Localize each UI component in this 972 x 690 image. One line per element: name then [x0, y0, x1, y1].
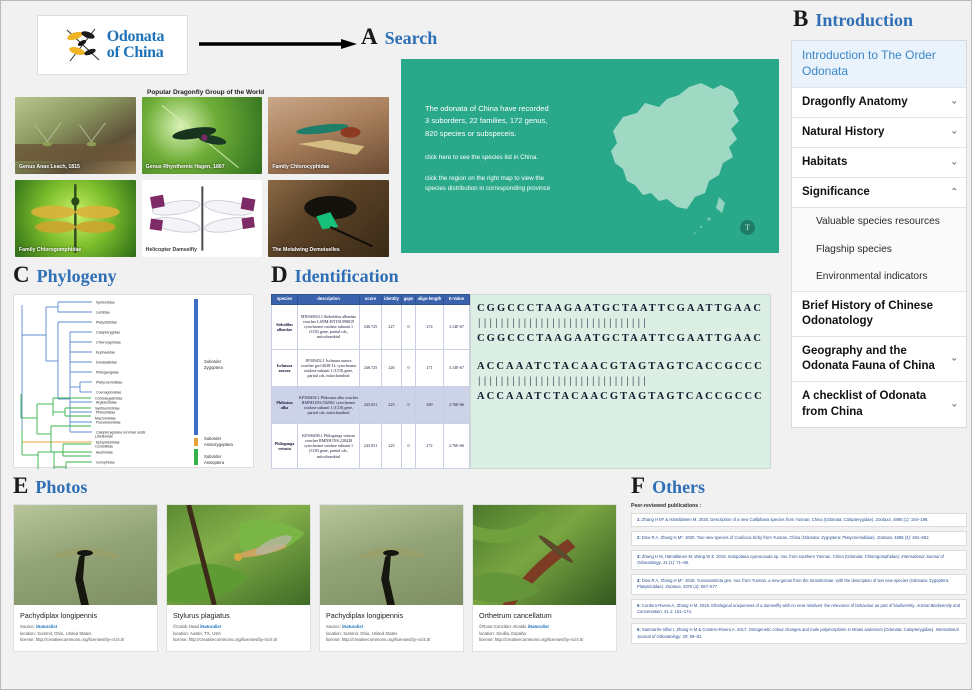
accordion-subitem-flagship-species[interactable]: Flagship species — [792, 236, 966, 263]
accordion-label: Valuable species resources — [816, 216, 940, 227]
publication-journal: Zootaxa — [876, 517, 891, 522]
table-row[interactable]: Ischnura aurora JF939452.1 Ischnura auro… — [272, 349, 470, 386]
panel-b-title: Introduction — [815, 10, 913, 31]
publication-journal: Zootaxa — [877, 535, 892, 540]
thumb-caption: Family Chlorocyphidae — [272, 165, 386, 171]
chevron-down-icon[interactable]: ⌄ — [950, 399, 958, 408]
thumb-caption: The Metalwing Demoiselles — [272, 248, 386, 254]
cell-align-length: 271 — [416, 349, 444, 386]
publication-item[interactable]: 4: Dow R A, Zhang H M*. 2018. Yunnanosti… — [631, 574, 967, 595]
chevron-down-icon[interactable]: ⌄ — [950, 127, 958, 136]
table-row[interactable]: Siebolilus albardae MN940923.1 Sieboldiu… — [272, 304, 470, 349]
panel-c-letter: C — [13, 263, 30, 286]
accordion-item-intro-odonata[interactable]: Introduction to The Order Odonata — [792, 41, 966, 88]
dragonfly-icon — [61, 24, 105, 66]
panel-f-letter: F — [631, 474, 645, 497]
photo-meta: Orthetrum cancellatum ©Rosa González Alc… — [473, 605, 616, 651]
svg-text:Suborder: Suborder — [204, 359, 222, 364]
accordion-subitem-environmental-indicators[interactable]: Environmental indicators — [792, 263, 966, 291]
dragonfly-on-stick-icon — [14, 505, 157, 605]
accordion-item-brief-history[interactable]: Brief History of Chinese Odonatology — [792, 292, 966, 337]
photo-source-link[interactable]: iNaturalist — [528, 624, 549, 629]
section-photos: E Photos Pachydiplax longipennis Source: — [13, 474, 623, 686]
publication-list: 1: Zhang H M* & Hämäläinen M. 2020. Desc… — [631, 513, 967, 644]
photo-source-prefix: ©Rosa González Alcalde — [479, 624, 528, 629]
thumb-card[interactable]: Helicopter Damselfly — [142, 180, 263, 257]
photo-card[interactable]: Pachydiplax longipennis Source: iNatural… — [319, 504, 464, 652]
photo-gallery: Pachydiplax longipennis Source: iNatural… — [13, 504, 623, 652]
col-evalue: E-Value — [444, 295, 470, 305]
cell-species: Siebolilus albardae — [272, 304, 298, 349]
photo-source: ©Rosa González Alcalde iNaturalist — [479, 624, 610, 631]
accordion-label: Flagship species — [816, 244, 892, 255]
photo-species-name: Orthetrum cancellatum — [479, 611, 610, 620]
cell-gaps: 0 — [402, 349, 416, 386]
accordion-item-natural-history[interactable]: Natural History ⌄ — [792, 118, 966, 148]
panel-e-heading: E Photos — [13, 474, 623, 498]
cell-score: 246.725 — [360, 349, 382, 386]
alignment-subject-1: CGGCCCTAAGAATGCTAATTCGAATTGAAC — [477, 333, 764, 344]
panel-a-letter: A — [361, 25, 378, 48]
photo-card[interactable]: Pachydiplax longipennis Source: iNatural… — [13, 504, 158, 652]
cell-evalue: 2.76E-66 — [444, 423, 470, 468]
photo-license[interactable]: license: http://creativecommons.org/lice… — [479, 637, 610, 644]
cell-score: 246.725 — [360, 304, 382, 349]
section-others: F Others Peer-reviewed publications : 1:… — [631, 474, 967, 686]
svg-text:Macromiidae: Macromiidae — [95, 416, 116, 420]
col-description: description — [298, 295, 360, 305]
chevron-up-icon[interactable]: ⌃ — [950, 187, 958, 196]
blast-results-table[interactable]: species description score identity gaps … — [271, 294, 470, 469]
panel-f-title: Others — [652, 477, 705, 498]
photo-meta: Stylurus plagiatus ©Calob Head iNaturali… — [167, 605, 310, 651]
cell-identity: 226 — [382, 349, 402, 386]
cell-species: Philoganga vetusta — [272, 423, 298, 468]
cell-align-length: 274 — [416, 304, 444, 349]
panel-c-heading: C Phylogeny — [13, 263, 261, 287]
species-list-link[interactable]: click here to see the species list in Ch… — [425, 153, 630, 163]
cell-description: KF369490.1 Philoganga vetusta voucher RM… — [298, 423, 360, 468]
panel-d-heading: D Identification — [271, 263, 771, 287]
photo-source-link[interactable]: iNaturalist — [342, 624, 363, 629]
accordion-label: Habitats — [802, 156, 847, 168]
thumb-caption: Genus Anax Leach, 1815 — [19, 165, 133, 171]
svg-text:Platycnemididae: Platycnemididae — [96, 380, 122, 384]
panel-f-heading: F Others — [631, 474, 967, 498]
photo-location: location: Sevilla, España — [479, 631, 610, 638]
panel-d-letter: D — [271, 263, 288, 286]
publication-tail: , 41.1: 161–174. — [662, 609, 692, 614]
col-species: species — [272, 295, 298, 305]
table-row[interactable]: Philoganga vetusta KF369490.1 Philoganga… — [272, 423, 470, 468]
accordion-label: Environmental indicators — [816, 271, 928, 282]
cell-score: 243.031 — [360, 423, 382, 468]
photo-card[interactable]: Orthetrum cancellatum ©Rosa González Alc… — [472, 504, 617, 652]
col-identity: identity — [382, 295, 402, 305]
identification-body: species description score identity gaps … — [271, 294, 763, 469]
photo-location: location: Austin, TX, USA — [173, 631, 304, 638]
cell-species: Ischnura aurora — [272, 349, 298, 386]
publication-tail: , 4896 (4): 491–502. — [892, 535, 930, 540]
photo-source-link[interactable]: iNaturalist — [200, 624, 221, 629]
china-map-shape — [601, 77, 753, 242]
panel-d-title: Identification — [295, 266, 399, 287]
photo-species-name: Pachydiplax longipennis — [326, 611, 457, 620]
col-align-length: align-length — [416, 295, 444, 305]
panel-c-title: Phylogeny — [37, 266, 117, 287]
cell-gaps: 0 — [402, 423, 416, 468]
publication-text: Sanmartín-Villar I, Zhang H M & Cordero-… — [642, 627, 936, 632]
dragonfly-on-leaf-icon — [167, 505, 310, 605]
accordion-item-geography-fauna[interactable]: Geography and the Odonata Fauna of China… — [792, 337, 966, 382]
section-search: Odonata of China A Search Popular Dragon… — [9, 7, 787, 259]
arrow-icon — [199, 39, 357, 49]
photo-meta: Pachydiplax longipennis Source: iNatural… — [320, 605, 463, 651]
thumb-caption: Helicopter Damselfly — [146, 248, 260, 254]
dragonfly-photo — [142, 97, 263, 174]
logo-line-2: of China — [107, 45, 164, 61]
photo-source-link[interactable]: iNaturalist — [36, 624, 57, 629]
thumb-card[interactable]: Family Chlorogomphidae — [15, 180, 136, 257]
publication-item[interactable]: 6: Sanmartín-Villar I, Zhang H M & Corde… — [631, 623, 967, 644]
publication-index: 6: — [637, 627, 641, 632]
col-score: score — [360, 295, 382, 305]
publication-item[interactable]: 5: Cordero-Rivera A, Zhang H M. 2018. Et… — [631, 599, 967, 620]
photo-species-name: Stylurus plagiatus — [173, 611, 304, 620]
dragonfly-on-stick-icon — [320, 505, 463, 605]
helicopter-damselfly-photo — [142, 180, 263, 257]
svg-text:Synthemistidae: Synthemistidae — [95, 406, 120, 410]
publication-index: 3: — [637, 554, 641, 559]
svg-text:Corduliidae: Corduliidae — [95, 444, 113, 448]
publications-subtitle: Peer-reviewed publications : — [631, 503, 967, 509]
photo-location: location: Summit, Ohio, United States — [326, 631, 457, 638]
publication-text: Zhang H M* & Hämäläinen M. 2020. Descrip… — [642, 517, 876, 522]
svg-text:Chlorocyphidae: Chlorocyphidae — [96, 340, 121, 344]
table-row[interactable]: Philosina alba KF369494.1 Philosina alba… — [272, 386, 470, 423]
publication-tail: , 21 (1): 71–88. — [661, 560, 689, 565]
publication-tail: , 4375 (4): 567–577. — [681, 584, 719, 589]
section-identification: D Identification species description sco… — [271, 263, 771, 463]
alignment-subject-2: ACCAAATCTACAACGTAGTAGTCACCGCCC — [477, 391, 764, 402]
dragonfly-photo — [268, 180, 389, 257]
svg-text:Devadattidae: Devadattidae — [96, 360, 117, 364]
cell-score: 243.031 — [360, 386, 382, 423]
cell-align-length: 269 — [416, 386, 444, 423]
cell-description: JF939452.1 Ischnura aurora voucher gw146… — [298, 349, 360, 386]
publication-text: Cordero-Rivera A, Zhang H M. 2018. Ethol… — [642, 603, 917, 608]
photo-meta: Pachydiplax longipennis Source: iNatural… — [14, 605, 157, 651]
photo-source-prefix: Source: — [326, 624, 342, 629]
accordion-label: A checklist of Odonata from China — [802, 390, 926, 417]
publication-text: Dow R A, Zhang H M*. 2020. Two new speci… — [642, 535, 877, 540]
accordion-label: Brief History of Chinese Odonatology — [802, 300, 933, 327]
accordion-label: Introduction to The Order Odonata — [802, 48, 936, 78]
cell-gaps: 0 — [402, 304, 416, 349]
thumb-caption: Genus Rhyothemis Hagen, 1867 — [146, 165, 260, 171]
publication-text: Zhang H M, Hämäläinen M, Wang W Z. 2018.… — [642, 554, 901, 559]
chevron-down-icon[interactable]: ⌄ — [950, 354, 958, 363]
photo-card[interactable]: Stylurus plagiatus ©Calob Head iNaturali… — [166, 504, 311, 652]
cell-align-length: 272 — [416, 423, 444, 468]
accordion-item-dragonfly-anatomy[interactable]: Dragonfly Anatomy ⌄ — [792, 88, 966, 118]
cell-gaps: 0 — [402, 386, 416, 423]
svg-text:Zygoptera: Zygoptera — [204, 365, 224, 370]
svg-text:Lestidae: Lestidae — [96, 310, 110, 314]
cell-description: KF369494.1 Philosina alba voucher RMNH.I… — [298, 386, 360, 423]
site-logo[interactable]: Odonata of China — [37, 15, 188, 75]
publication-tail: , 20: 69–81. — [680, 634, 702, 639]
photo-image[interactable] — [320, 505, 463, 605]
cell-identity: 223 — [382, 386, 402, 423]
panel-b-letter: B — [793, 7, 808, 30]
introduction-accordion: Introduction to The Order Odonata Dragon… — [791, 40, 967, 428]
photo-license[interactable]: license: http://creativecommons.org/lice… — [20, 637, 151, 644]
accordion-item-habitats[interactable]: Habitats ⌄ — [792, 148, 966, 178]
accordion-label: Natural History — [802, 126, 884, 138]
cell-evalue: 3.14E-67 — [444, 304, 470, 349]
photo-source-prefix: ©Calob Head — [173, 624, 200, 629]
sequence-alignment-viewer[interactable]: CGGCCCTAAGAATGCTAATTCGAATTGAAC |||||||||… — [470, 294, 771, 469]
publication-index: 4: — [637, 578, 641, 583]
panel-a-title: Search — [385, 28, 438, 49]
dragonfly-on-branch-icon — [473, 505, 616, 605]
alignment-query-2: ACCAAATCTACAACGTAGTAGTCACCGCCC — [477, 361, 764, 372]
dragonfly-photo — [15, 180, 136, 257]
accordion-subitem-valuable-species-resources[interactable]: Valuable species resources — [792, 208, 966, 235]
thumb-card[interactable]: Genus Anax Leach, 1815 — [15, 97, 136, 174]
photo-image[interactable] — [473, 505, 616, 605]
search-copy: The odonata of China have recorded 3 sub… — [425, 103, 630, 195]
accordion-item-checklist[interactable]: A checklist of Odonata from China ⌄ — [792, 382, 966, 426]
intro-line-3: 820 species or subspeceis. — [425, 128, 630, 140]
cell-description: MN940923.1 Sieboldius albardae voucher L… — [298, 304, 360, 349]
cell-identity: 227 — [382, 304, 402, 349]
poster-root: Odonata of China A Search Popular Dragon… — [0, 0, 972, 690]
section-introduction: B Introduction Introduction to The Order… — [791, 7, 967, 462]
cell-identity: 225 — [382, 423, 402, 468]
publication-index: 1: — [637, 517, 641, 522]
thumb-card[interactable]: The Metalwing Demoiselles — [268, 180, 389, 257]
cell-species: Philosina alba — [272, 386, 298, 423]
svg-text:Euphaeidae: Euphaeidae — [96, 350, 115, 354]
svg-text:Calopterygidae: Calopterygidae — [96, 330, 120, 334]
publication-item[interactable]: 1: Zhang H M* & Hämäläinen M. 2020. Desc… — [631, 513, 967, 527]
cell-evalue: 3.14E-67 — [444, 349, 470, 386]
china-map[interactable] — [601, 77, 753, 242]
svg-text:Platystictidae: Platystictidae — [96, 320, 117, 324]
search-map-card[interactable]: The odonata of China have recorded 3 sub… — [401, 59, 779, 253]
accordion-label: Geography and the Odonata Fauna of China — [802, 345, 935, 372]
dragonfly-photo — [15, 97, 136, 174]
thumb-caption: Family Chlorogomphidae — [19, 248, 133, 254]
photo-image[interactable] — [14, 505, 157, 605]
svg-text:Cordulegastridae: Cordulegastridae — [95, 396, 122, 400]
photo-license[interactable]: license: http://creativecommons.org/lice… — [173, 637, 304, 644]
intro-line-2: 3 suborders, 22 families, 172 genus, — [425, 115, 630, 127]
thumb-card[interactable]: Family Chlorocyphidae — [268, 97, 389, 174]
svg-text:Libellulidae: Libellulidae — [95, 434, 113, 438]
table-header-row: species description score identity gaps … — [272, 295, 470, 305]
thumb-card[interactable]: Genus Rhyothemis Hagen, 1867 — [142, 97, 263, 174]
svg-text:Synlestidae: Synlestidae — [96, 300, 115, 304]
photo-image[interactable] — [167, 505, 310, 605]
publication-index: 5: — [637, 603, 641, 608]
map-hint-line-1: click the region on the right map to vie… — [425, 174, 630, 184]
publication-item[interactable]: 3: Zhang H M, Hämäläinen M, Wang W Z. 20… — [631, 550, 967, 571]
chevron-down-icon[interactable]: ⌄ — [950, 157, 958, 166]
alignment-match-1: |||||||||||||||||||||||||||||| — [478, 318, 764, 329]
map-tool-badge[interactable]: T — [740, 220, 755, 235]
alignment-query-1: CGGCCCTAAGAATGCTAATTCGAATTGAAC — [477, 303, 764, 314]
accordion-label: Significance — [802, 186, 870, 198]
panel-b-heading: B Introduction — [793, 7, 967, 31]
photo-location: location: Summit, Ohio, United States — [20, 631, 151, 638]
panel-e-title: Photos — [35, 477, 87, 498]
publication-tail: , 4895 (1): 193–198. — [891, 517, 929, 522]
photo-source-prefix: Source: — [20, 624, 36, 629]
photo-species-name: Pachydiplax longipennis — [20, 611, 151, 620]
photo-source: ©Calob Head iNaturalist — [173, 624, 304, 631]
panel-a-heading: A Search — [361, 25, 437, 49]
map-hint-line-2: species distribution in corresponding pr… — [425, 184, 630, 194]
thumbs-title: Popular Dragonfly Group of the World — [147, 89, 264, 96]
popular-group-grid: Genus Anax Leach, 1815 Genus Rhyothemis … — [15, 97, 389, 257]
photo-source: Source: iNaturalist — [20, 624, 151, 631]
logo-line-1: Odonata — [107, 29, 164, 45]
photo-license[interactable]: license: http://creativecommons.org/lice… — [326, 637, 457, 644]
cell-evalue: 2.76E-66 — [444, 386, 470, 423]
col-gaps: gaps — [402, 295, 416, 305]
publication-item[interactable]: 2: Dow R A, Zhang H M*. 2020. Two new sp… — [631, 531, 967, 545]
svg-text:Philogangidae: Philogangidae — [96, 370, 119, 374]
panel-e-letter: E — [13, 474, 28, 497]
alignment-match-2: |||||||||||||||||||||||||||||| — [478, 376, 764, 387]
intro-line-1: The odonata of China have recorded — [425, 103, 630, 115]
publication-index: 2: — [637, 535, 641, 540]
chevron-down-icon[interactable]: ⌄ — [950, 97, 958, 106]
dragonfly-photo — [268, 97, 389, 174]
photo-source: Source: iNaturalist — [326, 624, 457, 631]
accordion-label: Dragonfly Anatomy — [802, 96, 908, 108]
accordion-item-significance[interactable]: Significance ⌃ — [792, 178, 966, 208]
publication-journal: Zootaxa — [665, 584, 680, 589]
phylogeny-lower-leaves: Cordulegastridae Synthemistidae Macromii… — [14, 394, 253, 462]
